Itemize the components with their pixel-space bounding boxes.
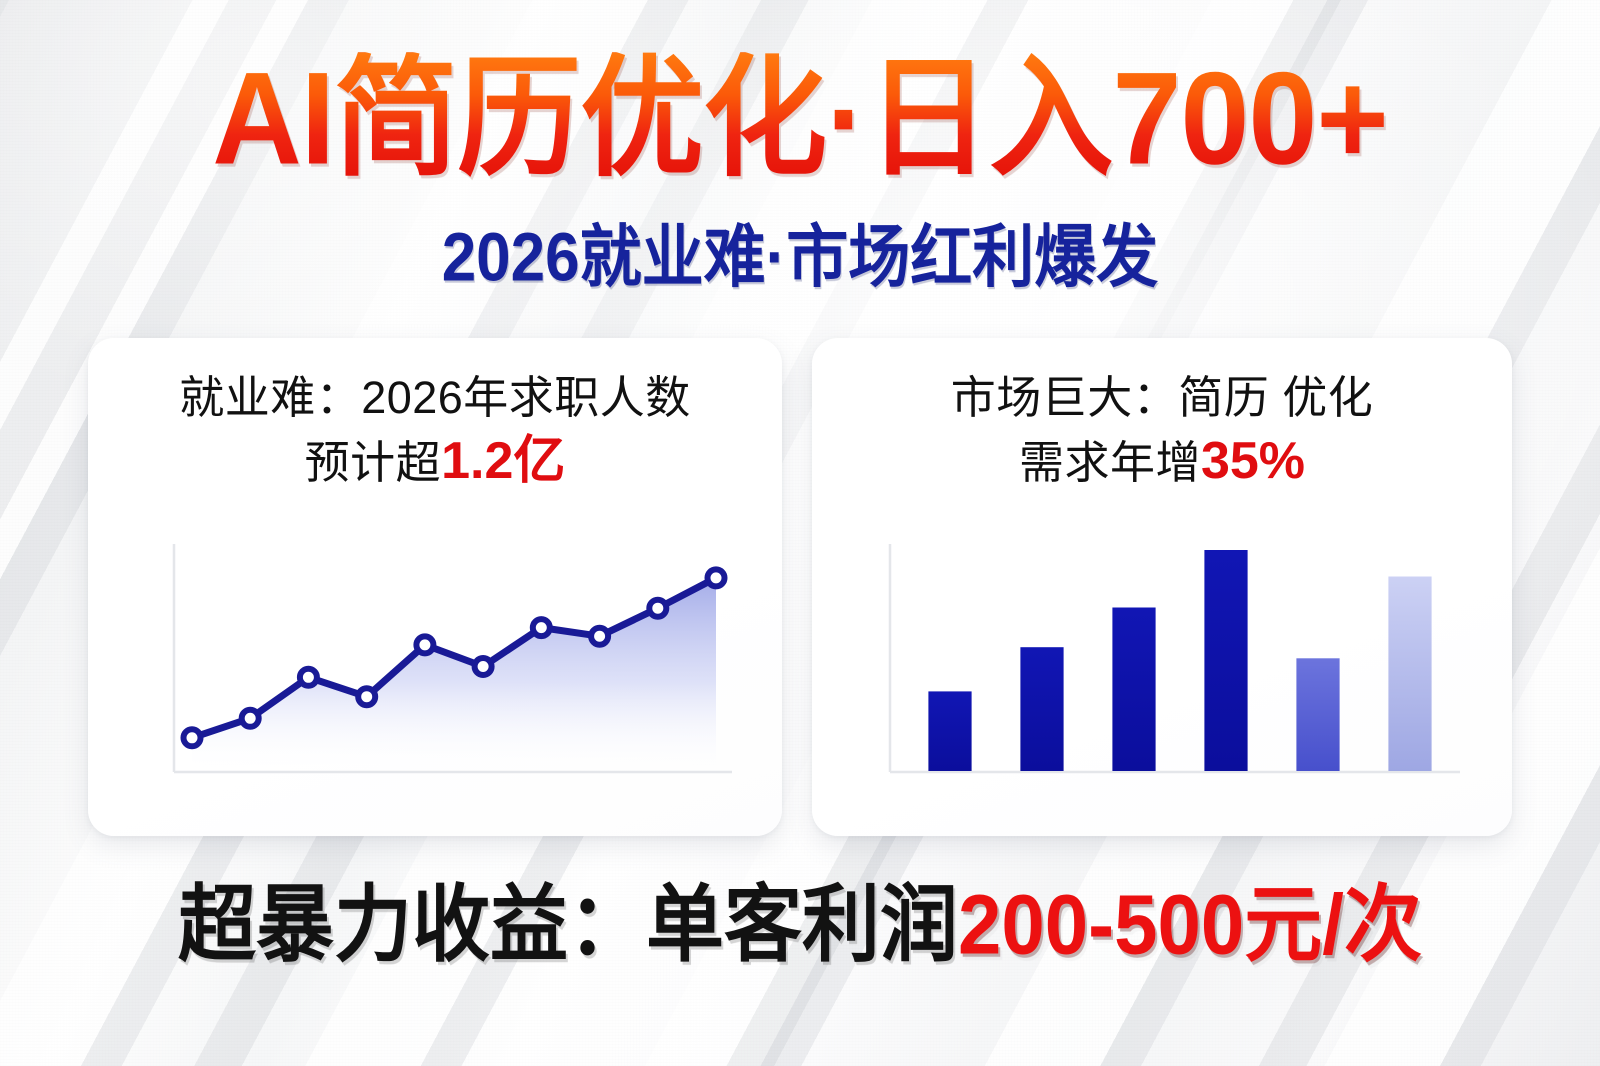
poster-headline: AI简历优化·日入700+ — [212, 52, 1388, 186]
line-chart-point-7 — [533, 619, 550, 636]
line-chart-point-10 — [708, 569, 725, 586]
line-chart-point-9 — [649, 600, 666, 617]
left-card-title-line2: 预计超1.2亿 — [88, 427, 782, 496]
line-chart-area-fill — [192, 578, 716, 768]
stat-card-employment: 就业难：2026年求职人数 预计超1.2亿 — [88, 338, 782, 836]
line-chart-point-3 — [300, 669, 317, 686]
bar-chart-bar-6 — [1388, 577, 1431, 772]
line-chart-point-2 — [242, 710, 259, 727]
poster-canvas: AI简历优化·日入700+ 2026就业难·市场红利爆发 就业难：2026年求职… — [0, 0, 1600, 1066]
footer-text-red: 200-500元/次 — [958, 877, 1422, 972]
footer-block: 超暴力收益：单客利润200-500元/次 — [0, 862, 1600, 974]
subheadline-block: 2026就业难·市场红利爆发 — [0, 206, 1600, 296]
right-card-title-line2: 需求年增35% — [812, 427, 1512, 496]
bar-chart-svg — [812, 528, 1512, 818]
right-card-title: 市场巨大：简历 优化 需求年增35% — [812, 368, 1512, 496]
bar-chart-bar-5 — [1296, 658, 1339, 771]
right-card-highlight-value: 35% — [1201, 432, 1305, 490]
left-card-highlight-value: 1.2亿 — [441, 432, 565, 490]
headline-block: AI简历优化·日入700+ — [0, 56, 1600, 182]
bar-chart-bar-1 — [928, 691, 971, 771]
bar-chart-bar-2 — [1020, 647, 1063, 771]
poster-subheadline: 2026就业难·市场红利爆发 — [442, 202, 1159, 301]
left-card-title-prefix: 预计超 — [305, 437, 442, 488]
bar-chart-container — [812, 528, 1512, 818]
line-chart-container — [88, 528, 782, 818]
footer-text-black: 超暴力收益：单客利润 — [178, 877, 958, 972]
footer-text: 超暴力收益：单客利润200-500元/次 — [178, 858, 1422, 979]
bar-chart-bars — [928, 550, 1431, 771]
line-chart-point-5 — [416, 636, 433, 653]
line-chart-point-8 — [591, 628, 608, 645]
bar-chart-bar-3 — [1112, 608, 1155, 772]
left-card-title-line1: 就业难：2026年求职人数 — [88, 368, 782, 427]
line-chart-svg — [88, 528, 782, 818]
line-chart-point-4 — [358, 688, 375, 705]
right-card-title-line1: 市场巨大：简历 优化 — [812, 368, 1512, 427]
stat-card-market: 市场巨大：简历 优化 需求年增35% — [812, 338, 1512, 836]
right-card-title-prefix: 需求年增 — [1019, 437, 1201, 488]
left-card-title: 就业难：2026年求职人数 预计超1.2亿 — [88, 368, 782, 496]
line-chart-point-6 — [475, 658, 492, 675]
bar-chart-bar-4 — [1204, 550, 1247, 771]
line-chart-point-1 — [184, 729, 201, 746]
